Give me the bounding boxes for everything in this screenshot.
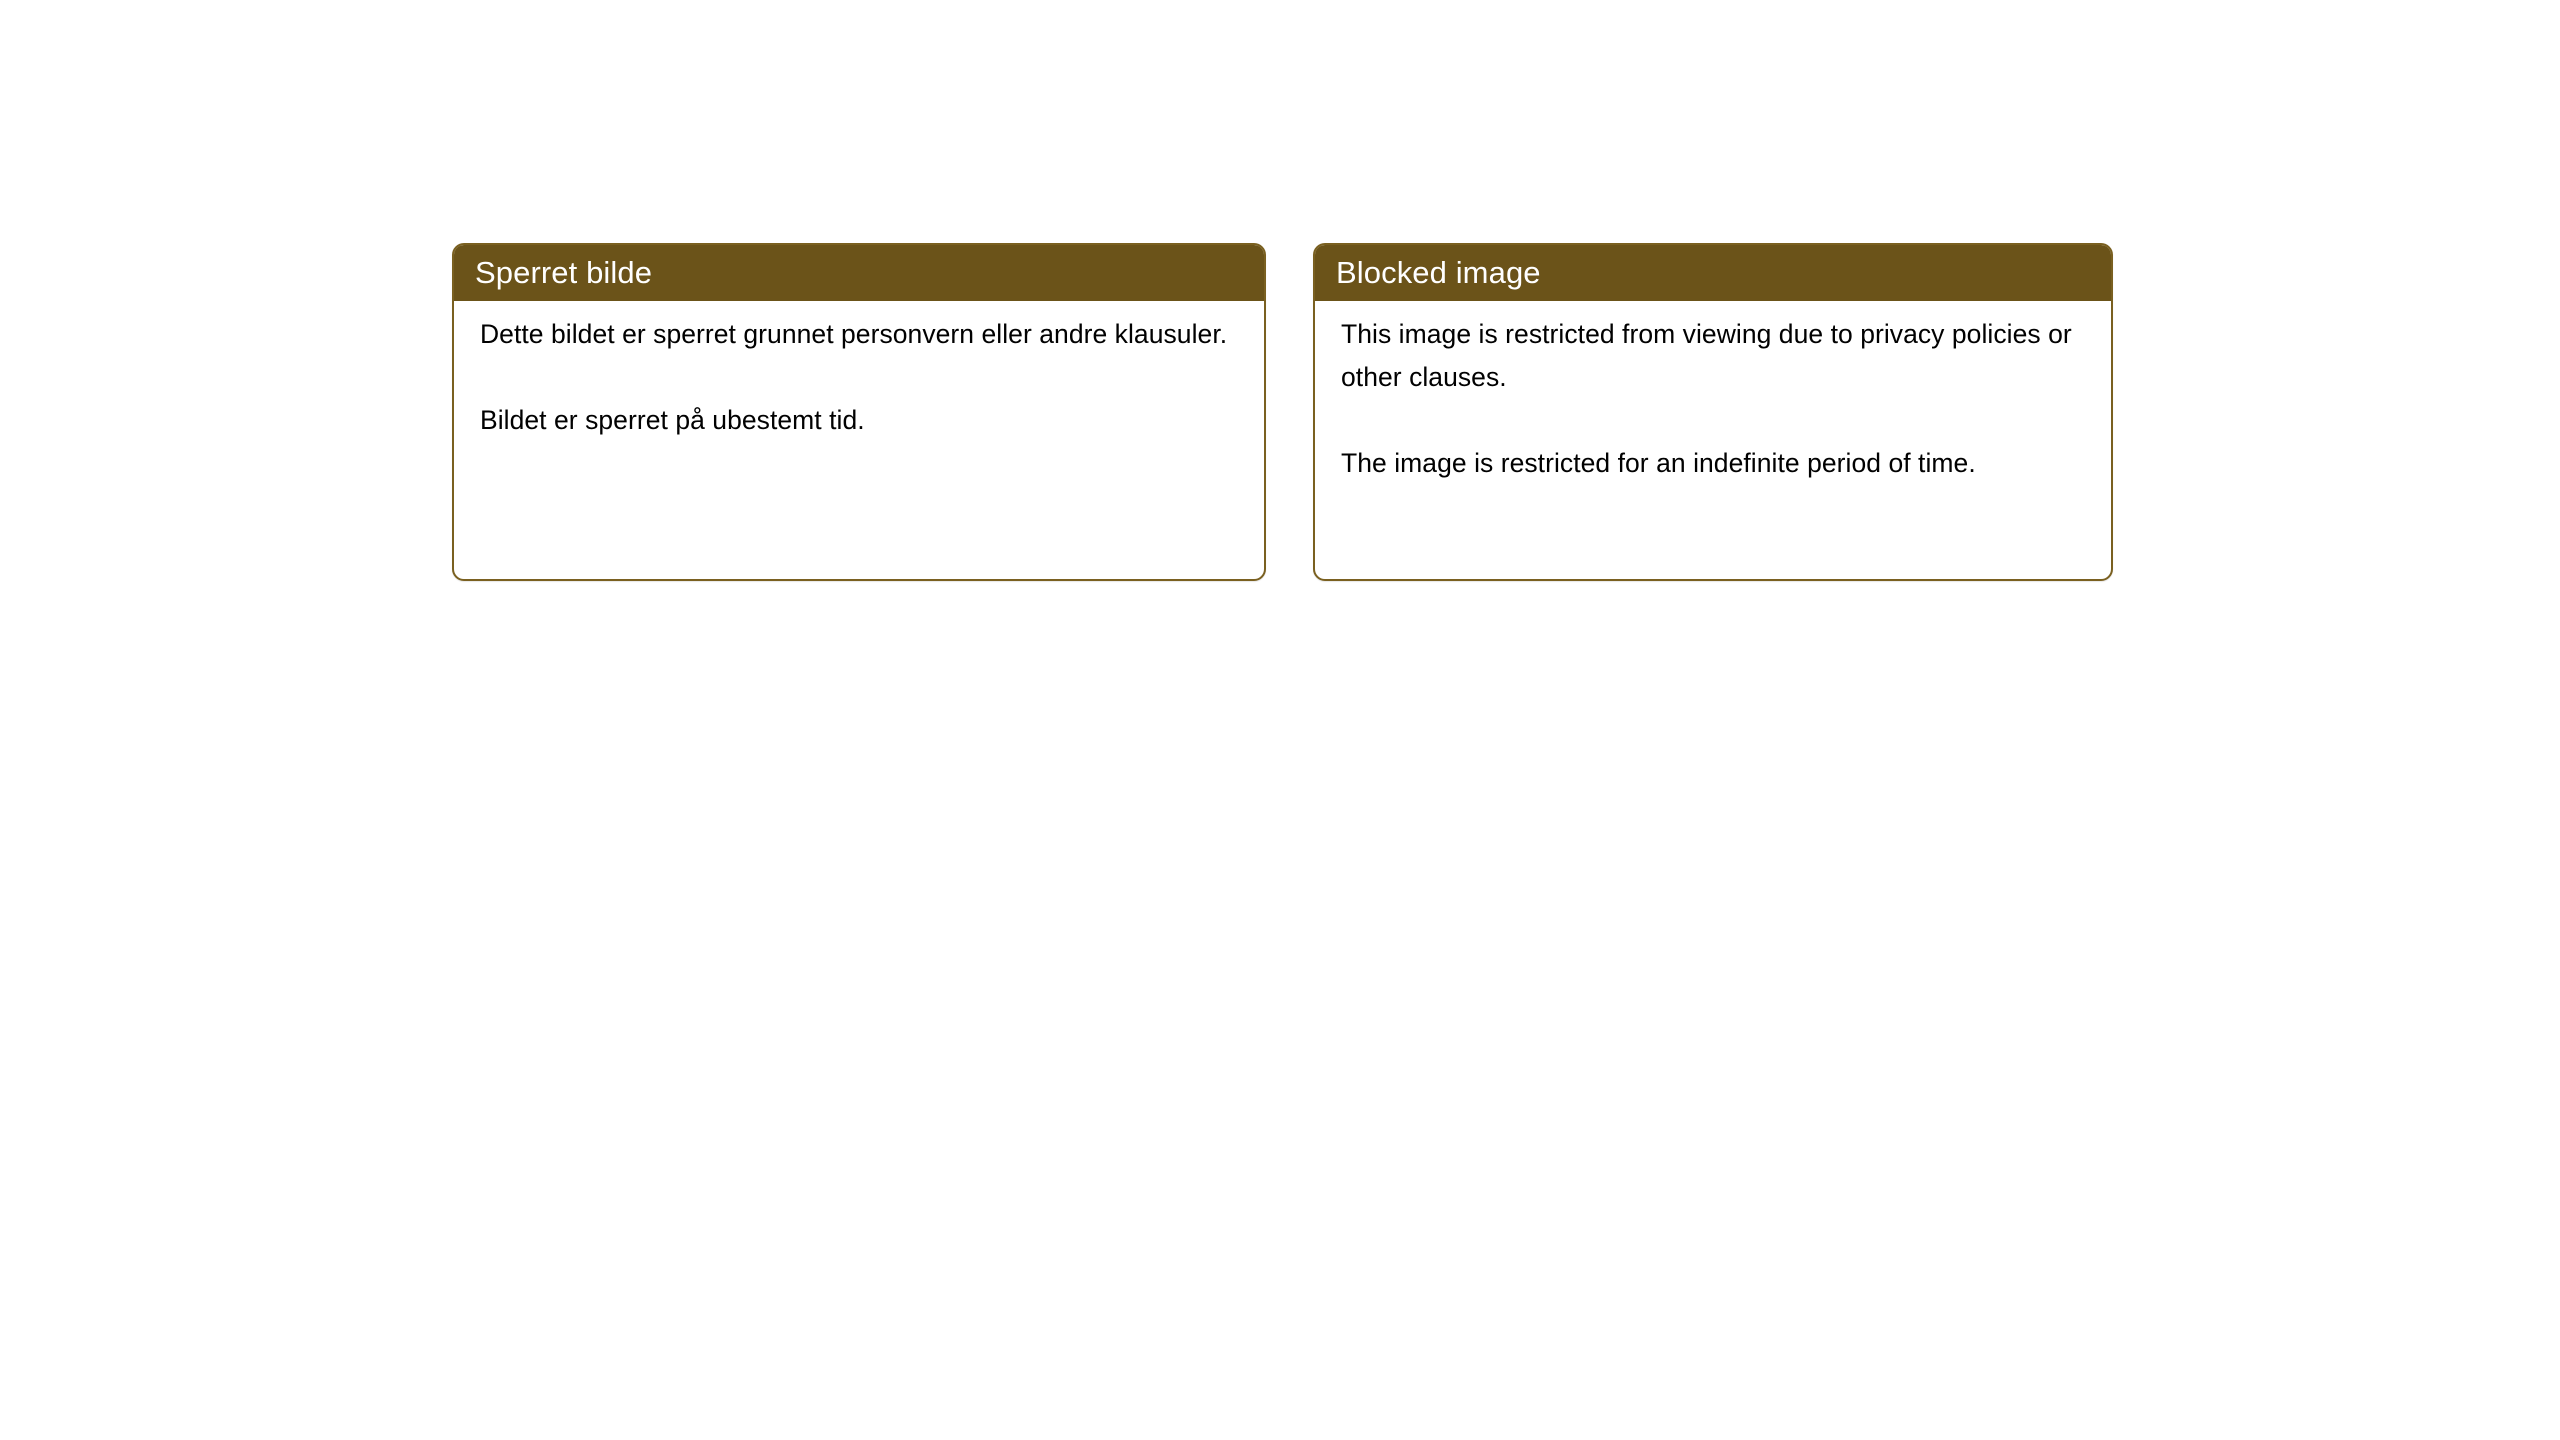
card-body-english: This image is restricted from viewing du…: [1315, 301, 2111, 485]
card-paragraph-secondary-english: The image is restricted for an indefinit…: [1341, 442, 2091, 485]
blocked-image-card-english: Blocked image This image is restricted f…: [1313, 243, 2113, 581]
card-body-norwegian: Dette bildet er sperret grunnet personve…: [454, 301, 1264, 442]
card-paragraph-primary-english: This image is restricted from viewing du…: [1341, 313, 2091, 399]
blocked-image-card-norwegian: Sperret bilde Dette bildet er sperret gr…: [452, 243, 1266, 581]
card-header-norwegian: Sperret bilde: [454, 245, 1264, 301]
card-paragraph-secondary-norwegian: Bildet er sperret på ubestemt tid.: [480, 399, 1244, 442]
card-title-norwegian: Sperret bilde: [475, 255, 652, 291]
card-paragraph-primary-norwegian: Dette bildet er sperret grunnet personve…: [480, 313, 1244, 356]
card-title-english: Blocked image: [1336, 255, 1541, 291]
page-root: Sperret bilde Dette bildet er sperret gr…: [0, 0, 2560, 1440]
card-header-english: Blocked image: [1315, 245, 2111, 301]
